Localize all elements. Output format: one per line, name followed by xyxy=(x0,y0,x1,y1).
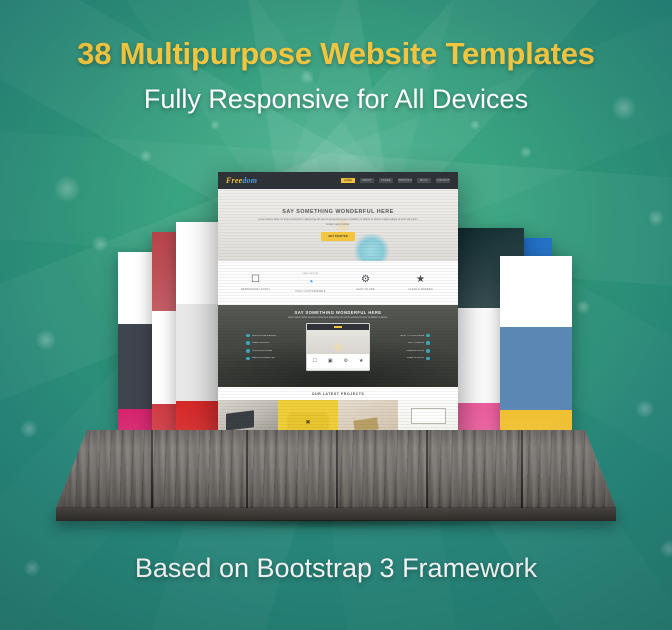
dark-list-item: EASY TO CUSTOMIZE xyxy=(374,334,430,338)
bullet-dot xyxy=(426,349,430,353)
plank-seam xyxy=(246,430,248,508)
template-nav-item[interactable]: PAGES xyxy=(379,178,393,183)
bullet-dot xyxy=(246,334,250,338)
promo-banner: 38 Multipurpose Website Templates Fully … xyxy=(0,0,672,630)
template-nav-menu[interactable]: HOMEABOUTPAGESPORTFOLIOBLOGCONTACT xyxy=(341,178,450,183)
shelf-surface xyxy=(56,430,616,508)
dark-list-item: FAST LOADING xyxy=(374,341,430,345)
feature-title: FULLY CUSTOMIZABLE xyxy=(295,290,325,293)
dark-list-item: RESPONSIVE DESIGN xyxy=(246,334,302,338)
dark-right-list: EASY TO CUSTOMIZEFAST LOADINGPREMIUM ICO… xyxy=(374,334,430,360)
gear-icon: ⚙ xyxy=(361,275,370,285)
freedom-logo: Freedom xyxy=(226,176,257,185)
wooden-shelf xyxy=(0,430,672,540)
feature-item[interactable]: ⚙EASY TO USE xyxy=(343,275,389,291)
template-hero: SAY SOMETHING WONDERFUL HERE Lorem ipsum… xyxy=(218,189,458,261)
template-header-band xyxy=(500,256,572,327)
dark-list-label: WELL DOCUMENTED xyxy=(252,357,275,359)
tablet-icon-row: ☐▣⚙★ xyxy=(307,354,369,368)
template-navbar: Freedom HOMEABOUTPAGESPORTFOLIOBLOGCONTA… xyxy=(218,172,458,189)
dark-left-list: RESPONSIVE DESIGNCLEAN MARKUPCROSS BROWS… xyxy=(246,334,302,360)
tablet-mockup: ☐▣⚙★ xyxy=(306,323,370,371)
template-body-band xyxy=(500,327,572,410)
dark-list-label: CROSS BROWSER xyxy=(252,350,273,352)
plank-seam xyxy=(521,430,523,508)
template-dark-section: SAY SOMETHING WONDERFUL HERE Lorem ipsum… xyxy=(218,305,458,387)
bullet-dot xyxy=(246,357,250,361)
template-nav-item[interactable]: CONTACT xyxy=(436,178,450,183)
plank-seam xyxy=(151,430,153,508)
feature-title: EASY TO USE xyxy=(356,288,374,291)
hero-title: SAY SOMETHING WONDERFUL HERE xyxy=(282,209,394,215)
plank-seam xyxy=(336,430,338,508)
dark-list-label: FAST LOADING xyxy=(408,342,425,344)
hero-paragraph: Lorem ipsum dolor sit amet consectetur a… xyxy=(258,218,418,227)
projects-title: OUR LATEST PROJECTS xyxy=(218,387,458,400)
hero-cta-button[interactable]: GET STARTED xyxy=(321,232,355,240)
dark-list-item: CLEAN MARKUP xyxy=(246,341,302,345)
logo-secondary: dom xyxy=(242,176,257,185)
dark-list-item: FREE UPDATES xyxy=(374,357,430,361)
dark-list-item: PREMIUM ICONS xyxy=(374,349,430,353)
template-stack: Freedom HOMEABOUTPAGESPORTFOLIOBLOGCONTA… xyxy=(0,0,672,470)
template-features-row: ☐RESPONSIVE LAYOUTFREE SUPPORT◔FULLY CUS… xyxy=(218,261,458,305)
feature-item[interactable]: FREE SUPPORT◔FULLY CUSTOMIZABLE xyxy=(288,273,334,293)
dark-list-label: RESPONSIVE DESIGN xyxy=(252,335,276,337)
shelf-drop-shadow xyxy=(36,520,636,546)
template-nav-item[interactable]: ABOUT xyxy=(360,178,374,183)
plank-seam xyxy=(426,430,428,508)
chat-bubble-icon: ◔ xyxy=(307,278,313,288)
dark-list-item: CROSS BROWSER xyxy=(246,349,302,353)
bullet-dot xyxy=(426,341,430,345)
bullet-dot xyxy=(426,357,430,361)
phone-icon: ☐ xyxy=(251,275,260,285)
dark-list-item: WELL DOCUMENTED xyxy=(246,357,302,361)
feature-item[interactable]: ★CLEAN & MODERN xyxy=(398,275,444,291)
feature-item[interactable]: ☐RESPONSIVE LAYOUT xyxy=(233,275,279,291)
feature-title: RESPONSIVE LAYOUT xyxy=(241,288,270,291)
dark-section-paragraph: Lorem ipsum dolor sit amet consectetur a… xyxy=(218,317,458,319)
template-nav-item[interactable]: HOME xyxy=(341,178,355,183)
bullet-dot xyxy=(246,349,250,353)
bullet-dot xyxy=(426,334,430,338)
logo-primary: Free xyxy=(226,176,242,185)
dark-list-label: PREMIUM ICONS xyxy=(406,350,425,352)
feature-title: CLEAN & MODERN xyxy=(408,288,432,291)
star-icon: ★ xyxy=(416,275,425,285)
template-nav-item[interactable]: PORTFOLIO xyxy=(398,178,412,183)
dark-list-label: FREE UPDATES xyxy=(407,357,424,359)
bullet-dot xyxy=(246,341,250,345)
dark-list-label: CLEAN MARKUP xyxy=(252,342,270,344)
dark-section-title: SAY SOMETHING WONDERFUL HERE xyxy=(218,310,458,315)
dark-list-label: EASY TO CUSTOMIZE xyxy=(400,335,424,337)
template-nav-item[interactable]: BLOG xyxy=(417,178,431,183)
feature-caption: FREE SUPPORT xyxy=(302,273,318,275)
page-footer-text: Based on Bootstrap 3 Framework xyxy=(0,553,672,584)
featured-template-freedom[interactable]: Freedom HOMEABOUTPAGESPORTFOLIOBLOGCONTA… xyxy=(218,172,458,468)
